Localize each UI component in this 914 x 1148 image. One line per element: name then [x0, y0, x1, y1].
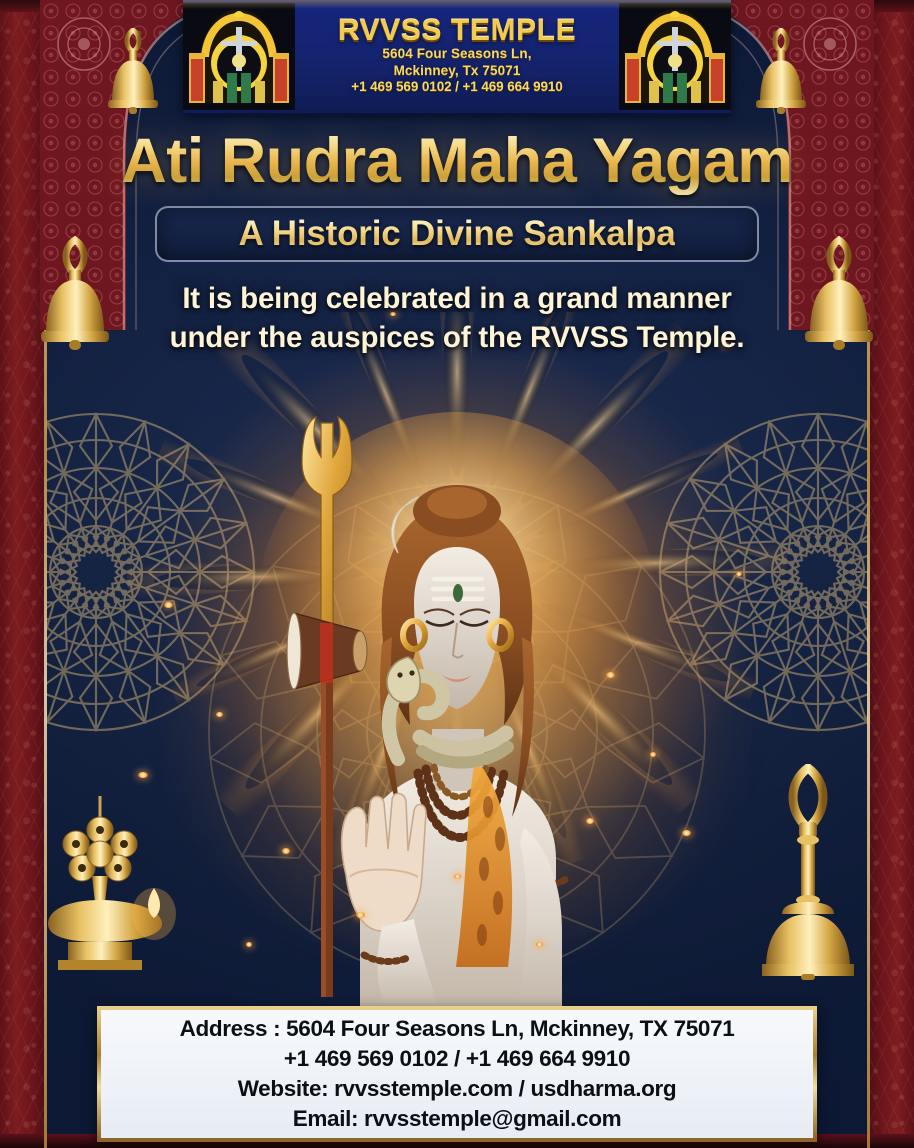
third-eye [453, 584, 463, 602]
subtitle-badge-wrap: A Historic Divine Sankalpa [155, 206, 759, 262]
page-title: Ati Rudra Maha Yagam [46, 128, 868, 195]
bottom-right-ritual-bell [748, 764, 868, 985]
temple-logo-banner: RVVSS TEMPLE 5604 Four Seasons Ln, Mckin… [183, 0, 731, 115]
ember-particle [536, 942, 543, 947]
contact-info-box: Address : 5604 Four Seasons Ln, Mckinney… [97, 1006, 817, 1142]
description-line-1: It is being celebrated in a grand manner [107, 279, 807, 318]
frame-right [868, 0, 914, 1148]
banner-address-line1: 5604 Four Seasons Ln, [297, 46, 617, 62]
ember-particle [138, 772, 148, 778]
ember-particle [282, 848, 290, 854]
contact-email[interactable]: Email: rvvsstemple@gmail.com [293, 1104, 622, 1134]
contact-address: Address : 5604 Four Seasons Ln, Mckinney… [180, 1014, 735, 1044]
top-right-bell [746, 28, 816, 121]
ember-particle [454, 874, 461, 879]
ember-particle [356, 912, 365, 918]
right-shrine-icon [619, 3, 731, 110]
abhaya-mudra-hand [342, 794, 426, 932]
ember-particle [682, 830, 691, 836]
description-block: It is being celebrated in a grand manner… [107, 279, 807, 357]
contact-phone: +1 469 569 0102 / +1 469 664 9910 [284, 1044, 630, 1074]
description-line-2: under the auspices of the RVVSS Temple. [107, 318, 807, 357]
banner-address-line2: Mckinney, Tx 75071 [297, 63, 617, 79]
ember-particle [650, 752, 656, 757]
headings-block: Ati Rudra Maha Yagam A Historic Divine S… [46, 128, 868, 357]
ember-particle [606, 672, 615, 678]
ember-particle [586, 818, 594, 824]
contact-website[interactable]: Website: rvvsstemple.com / usdharma.org [238, 1074, 677, 1104]
bottom-left-oil-lamp [34, 796, 184, 986]
lord-shiva-illustration [242, 407, 672, 1007]
ember-particle [164, 602, 173, 608]
poster-root: RVVSS TEMPLE 5604 Four Seasons Ln, Mckin… [0, 0, 914, 1148]
subtitle-badge-label: A Historic Divine Sankalpa [239, 216, 676, 251]
top-left-bell [98, 28, 168, 121]
subtitle-badge: A Historic Divine Sankalpa [155, 206, 759, 262]
ember-particle [736, 572, 742, 576]
temple-name: RVVSS TEMPLE [297, 16, 617, 47]
ember-particle [216, 712, 223, 717]
ember-particle [246, 942, 252, 947]
left-shrine-icon [183, 3, 295, 110]
banner-phones: +1 469 569 0102 / +1 469 664 9910 [297, 79, 617, 95]
